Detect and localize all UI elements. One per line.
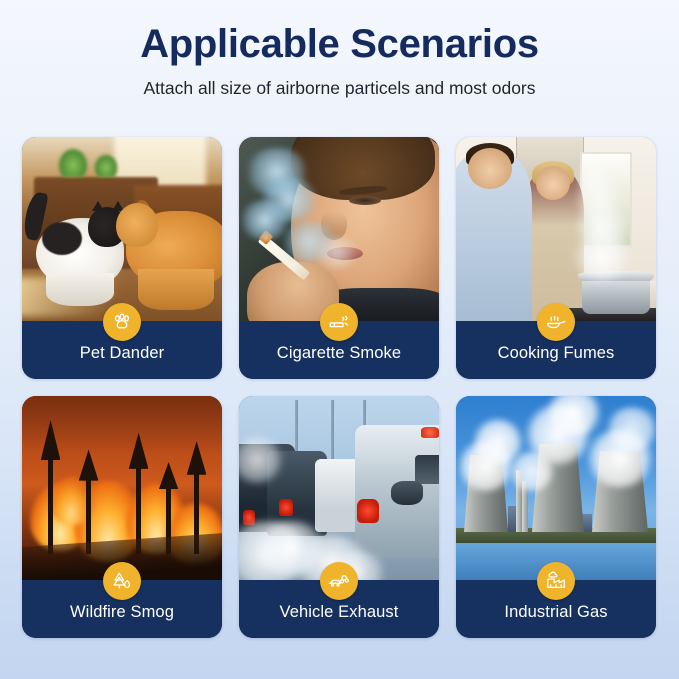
scenario-card-wildfire-smog[interactable]: Wildfire Smog: [22, 396, 222, 638]
card-label: Cooking Fumes: [498, 338, 615, 363]
pet-dander-photo: [22, 137, 222, 321]
scenario-card-vehicle-exhaust[interactable]: Vehicle Exhaust: [239, 396, 439, 638]
frying-pan-steam-icon: [537, 303, 575, 341]
paw-print-icon: [103, 303, 141, 341]
cigarette-icon: [320, 303, 358, 341]
industrial-gas-photo: [456, 396, 656, 580]
burning-trees-icon: [103, 562, 141, 600]
scenario-grid: Pet Dander Cigarette Smoke: [22, 137, 657, 638]
card-label: Wildfire Smog: [70, 597, 174, 622]
card-label: Pet Dander: [80, 338, 164, 363]
card-label: Vehicle Exhaust: [280, 597, 399, 622]
scenario-card-industrial-gas[interactable]: Industrial Gas: [456, 396, 656, 638]
card-label: Cigarette Smoke: [277, 338, 401, 363]
page-subtitle: Attach all size of airborne particels an…: [0, 78, 679, 99]
scenario-card-cigarette-smoke[interactable]: Cigarette Smoke: [239, 137, 439, 379]
page-title: Applicable Scenarios: [0, 22, 679, 66]
factory-icon: [537, 562, 575, 600]
car-exhaust-icon: [320, 562, 358, 600]
vehicle-exhaust-photo: [239, 396, 439, 580]
header: Applicable Scenarios Attach all size of …: [0, 0, 679, 99]
scenario-card-pet-dander[interactable]: Pet Dander: [22, 137, 222, 379]
card-label: Industrial Gas: [504, 597, 607, 622]
cigarette-smoke-photo: [239, 137, 439, 321]
cooking-fumes-photo: [456, 137, 656, 321]
wildfire-smog-photo: [22, 396, 222, 580]
scenario-card-cooking-fumes[interactable]: Cooking Fumes: [456, 137, 656, 379]
